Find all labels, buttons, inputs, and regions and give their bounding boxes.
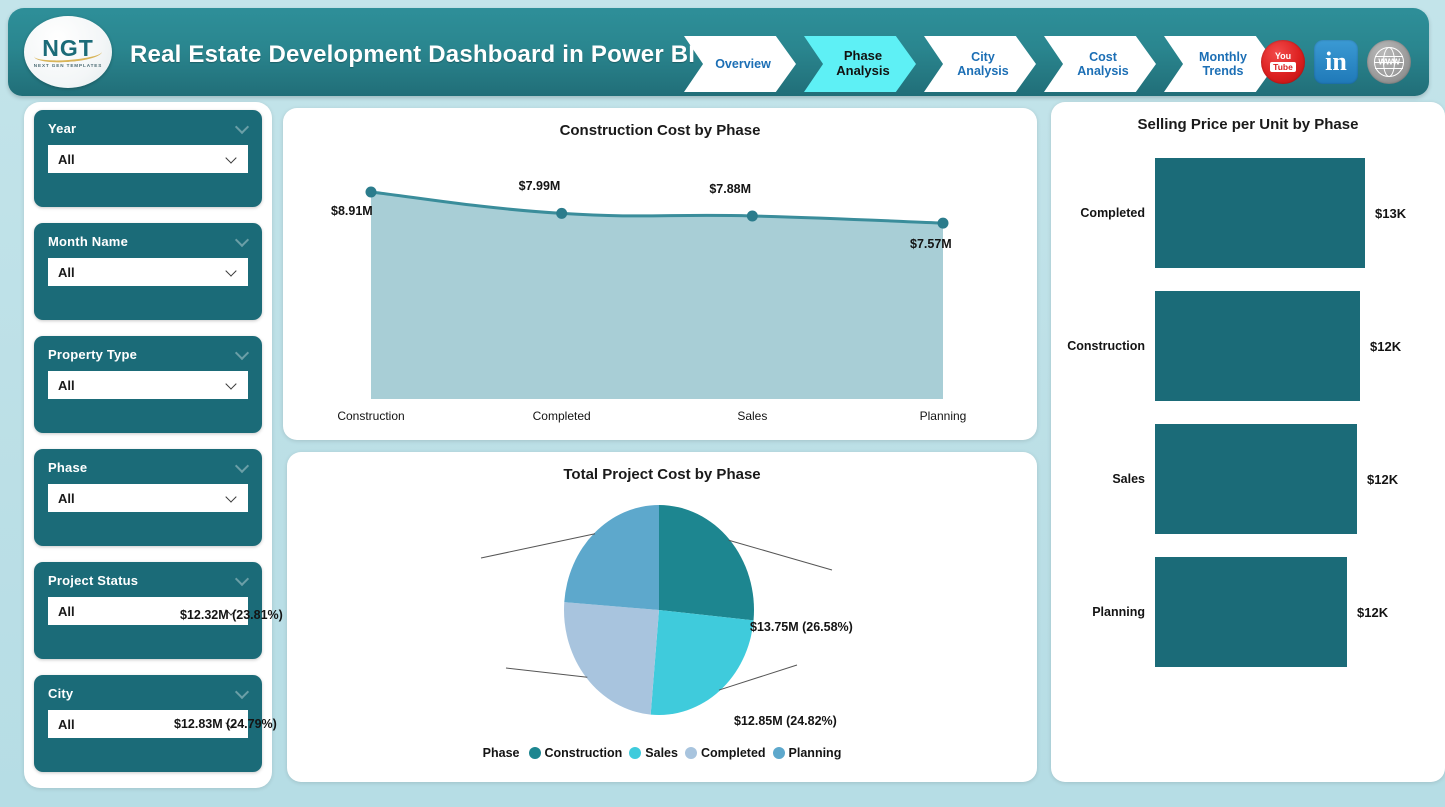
bar-row[interactable]: Construction$12K	[1051, 291, 1445, 401]
area-category-label: Completed	[524, 409, 600, 423]
tab-phase-analysis[interactable]: Phase Analysis	[804, 36, 916, 92]
chevron-down-icon	[236, 574, 249, 582]
filter-city-label: City	[48, 686, 248, 701]
area-data-label: $7.57M	[910, 237, 952, 251]
tab-city-analysis-label: City Analysis	[951, 50, 1008, 79]
legend-color-swatch	[529, 747, 541, 759]
filter-month-name-value: All	[58, 265, 75, 280]
tab-cost-analysis[interactable]: Cost Analysis	[1044, 36, 1156, 92]
chevron-down-icon	[236, 235, 249, 243]
pie-legend-label: Sales	[645, 746, 678, 760]
filter-property-type[interactable]: Property Type All	[34, 336, 262, 433]
bar-category-label: Construction	[1051, 339, 1155, 353]
filter-project-status-value: All	[58, 604, 75, 619]
youtube-icon-line1: You	[1275, 52, 1291, 61]
pie-data-label: $12.32M (23.81%)	[180, 608, 283, 622]
pie-slice[interactable]	[564, 602, 659, 714]
filter-phase-dropdown[interactable]: All	[48, 484, 248, 512]
chevron-down-icon	[236, 687, 249, 695]
filter-city-value: All	[58, 717, 75, 732]
construction-cost-title: Construction Cost by Phase	[283, 122, 1037, 139]
filter-phase-label: Phase	[48, 460, 248, 475]
area-data-label: $7.99M	[519, 179, 561, 193]
tab-overview[interactable]: Overview	[684, 36, 796, 92]
bar-category-label: Sales	[1051, 472, 1155, 486]
filter-project-status-label: Project Status	[48, 573, 248, 588]
pie-data-label: $12.85M (24.82%)	[734, 714, 837, 728]
chevron-down-icon	[236, 122, 249, 130]
logo-subtitle: NEXT GEN TEMPLATES	[34, 63, 102, 68]
selling-price-bar-chart[interactable]: Completed$13KConstruction$12KSales$12KPl…	[1051, 150, 1445, 780]
chevron-down-icon	[227, 154, 238, 161]
bar-category-label: Planning	[1051, 605, 1155, 619]
dashboard-body: Year All Month Name All Property Type	[8, 100, 1437, 800]
pie-legend-label: Construction	[545, 746, 623, 760]
construction-cost-card: Construction Cost by Phase $8.91M$7.99M$…	[283, 108, 1037, 440]
nav-tabs: Overview Phase Analysis City Analysis Co…	[684, 36, 1284, 92]
bar-value-label: $13K	[1375, 206, 1406, 221]
bar-rectangle[interactable]	[1155, 557, 1347, 667]
youtube-icon[interactable]: You Tube	[1261, 40, 1305, 84]
filter-month-name-label: Month Name	[48, 234, 248, 249]
total-project-cost-pie-chart[interactable]	[287, 482, 1037, 742]
total-project-cost-card: Total Project Cost by Phase $13.75M (26.…	[287, 452, 1037, 782]
globe-www-text: WWW	[1374, 58, 1404, 67]
pie-legend-item[interactable]: Planning	[773, 746, 842, 760]
filter-year-label: Year	[48, 121, 248, 136]
filter-year-value: All	[58, 152, 75, 167]
tab-overview-label: Overview	[709, 57, 771, 71]
bar-row[interactable]: Completed$13K	[1051, 158, 1445, 268]
globe-icon: WWW	[1374, 47, 1404, 77]
filter-property-type-dropdown[interactable]: All	[48, 371, 248, 399]
pie-legend-item[interactable]: Construction	[529, 746, 623, 760]
area-category-label: Sales	[714, 409, 790, 423]
linkedin-icon-glyph: in	[1325, 47, 1347, 77]
legend-color-swatch	[773, 747, 785, 759]
tab-cost-analysis-label: Cost Analysis	[1071, 50, 1128, 79]
pie-slice[interactable]	[564, 505, 659, 610]
bar-value-label: $12K	[1367, 472, 1398, 487]
pie-legend-item[interactable]: Completed	[685, 746, 766, 760]
pie-legend-item[interactable]: Sales	[629, 746, 678, 760]
globe-lower-line	[1375, 68, 1403, 69]
bar-value-label: $12K	[1357, 605, 1388, 620]
chevron-down-icon	[227, 380, 238, 387]
legend-color-swatch	[629, 747, 641, 759]
dashboard-canvas: NGT NEXT GEN TEMPLATES Real Estate Devel…	[0, 0, 1445, 807]
bar-rectangle[interactable]	[1155, 291, 1360, 401]
pie-legend-label: Completed	[701, 746, 766, 760]
chevron-down-icon	[227, 493, 238, 500]
legend-color-swatch	[685, 747, 697, 759]
tab-monthly-trends[interactable]: Monthly Trends	[1164, 36, 1276, 92]
chevron-down-icon	[236, 461, 249, 469]
brand-logo: NGT NEXT GEN TEMPLATES	[24, 16, 112, 88]
pie-legend-label: Planning	[789, 746, 842, 760]
chevron-down-icon	[227, 267, 238, 274]
total-project-cost-legend: PhaseConstructionSalesCompletedPlanning	[287, 746, 1037, 760]
area-data-label: $8.91M	[331, 204, 373, 218]
bar-rectangle[interactable]	[1155, 158, 1365, 268]
selling-price-card: Selling Price per Unit by Phase Complete…	[1051, 102, 1445, 782]
filter-year[interactable]: Year All	[34, 110, 262, 207]
page-title: Real Estate Development Dashboard in Pow…	[130, 41, 695, 69]
tab-city-analysis[interactable]: City Analysis	[924, 36, 1036, 92]
linkedin-icon[interactable]: in	[1314, 40, 1358, 84]
youtube-icon-line2: Tube	[1270, 62, 1296, 73]
pie-data-label: $12.83M (24.79%)	[174, 717, 277, 731]
area-category-label: Planning	[905, 409, 981, 423]
filter-phase-value: All	[58, 491, 75, 506]
total-project-cost-title: Total Project Cost by Phase	[287, 466, 1037, 483]
filter-year-dropdown[interactable]: All	[48, 145, 248, 173]
bar-row[interactable]: Sales$12K	[1051, 424, 1445, 534]
filter-property-type-value: All	[58, 378, 75, 393]
tab-monthly-trends-label: Monthly Trends	[1193, 50, 1247, 79]
tab-phase-analysis-label: Phase Analysis	[830, 49, 889, 79]
filter-sidebar: Year All Month Name All Property Type	[24, 102, 272, 788]
pie-slice[interactable]	[659, 505, 754, 620]
selling-price-title: Selling Price per Unit by Phase	[1051, 116, 1445, 133]
bar-rectangle[interactable]	[1155, 424, 1357, 534]
app-header: NGT NEXT GEN TEMPLATES Real Estate Devel…	[8, 8, 1429, 96]
filter-phase[interactable]: Phase All	[34, 449, 262, 546]
website-icon[interactable]: WWW	[1367, 40, 1411, 84]
area-data-label: $7.88M	[709, 182, 751, 196]
pie-slice[interactable]	[651, 610, 754, 715]
bar-value-label: $12K	[1370, 339, 1401, 354]
chevron-down-icon	[236, 348, 249, 356]
construction-cost-area-chart[interactable]	[283, 142, 1037, 440]
area-category-label: Construction	[333, 409, 409, 423]
pie-legend-title: Phase	[483, 746, 520, 760]
pie-data-label: $13.75M (26.58%)	[750, 620, 853, 634]
logo-swoosh-decoration	[34, 44, 103, 65]
filter-month-name-dropdown[interactable]: All	[48, 258, 248, 286]
filter-property-type-label: Property Type	[48, 347, 248, 362]
bar-category-label: Completed	[1051, 206, 1155, 220]
social-links: You Tube in WWW	[1261, 40, 1411, 84]
filter-month-name[interactable]: Month Name All	[34, 223, 262, 320]
bar-row[interactable]: Planning$12K	[1051, 557, 1445, 667]
